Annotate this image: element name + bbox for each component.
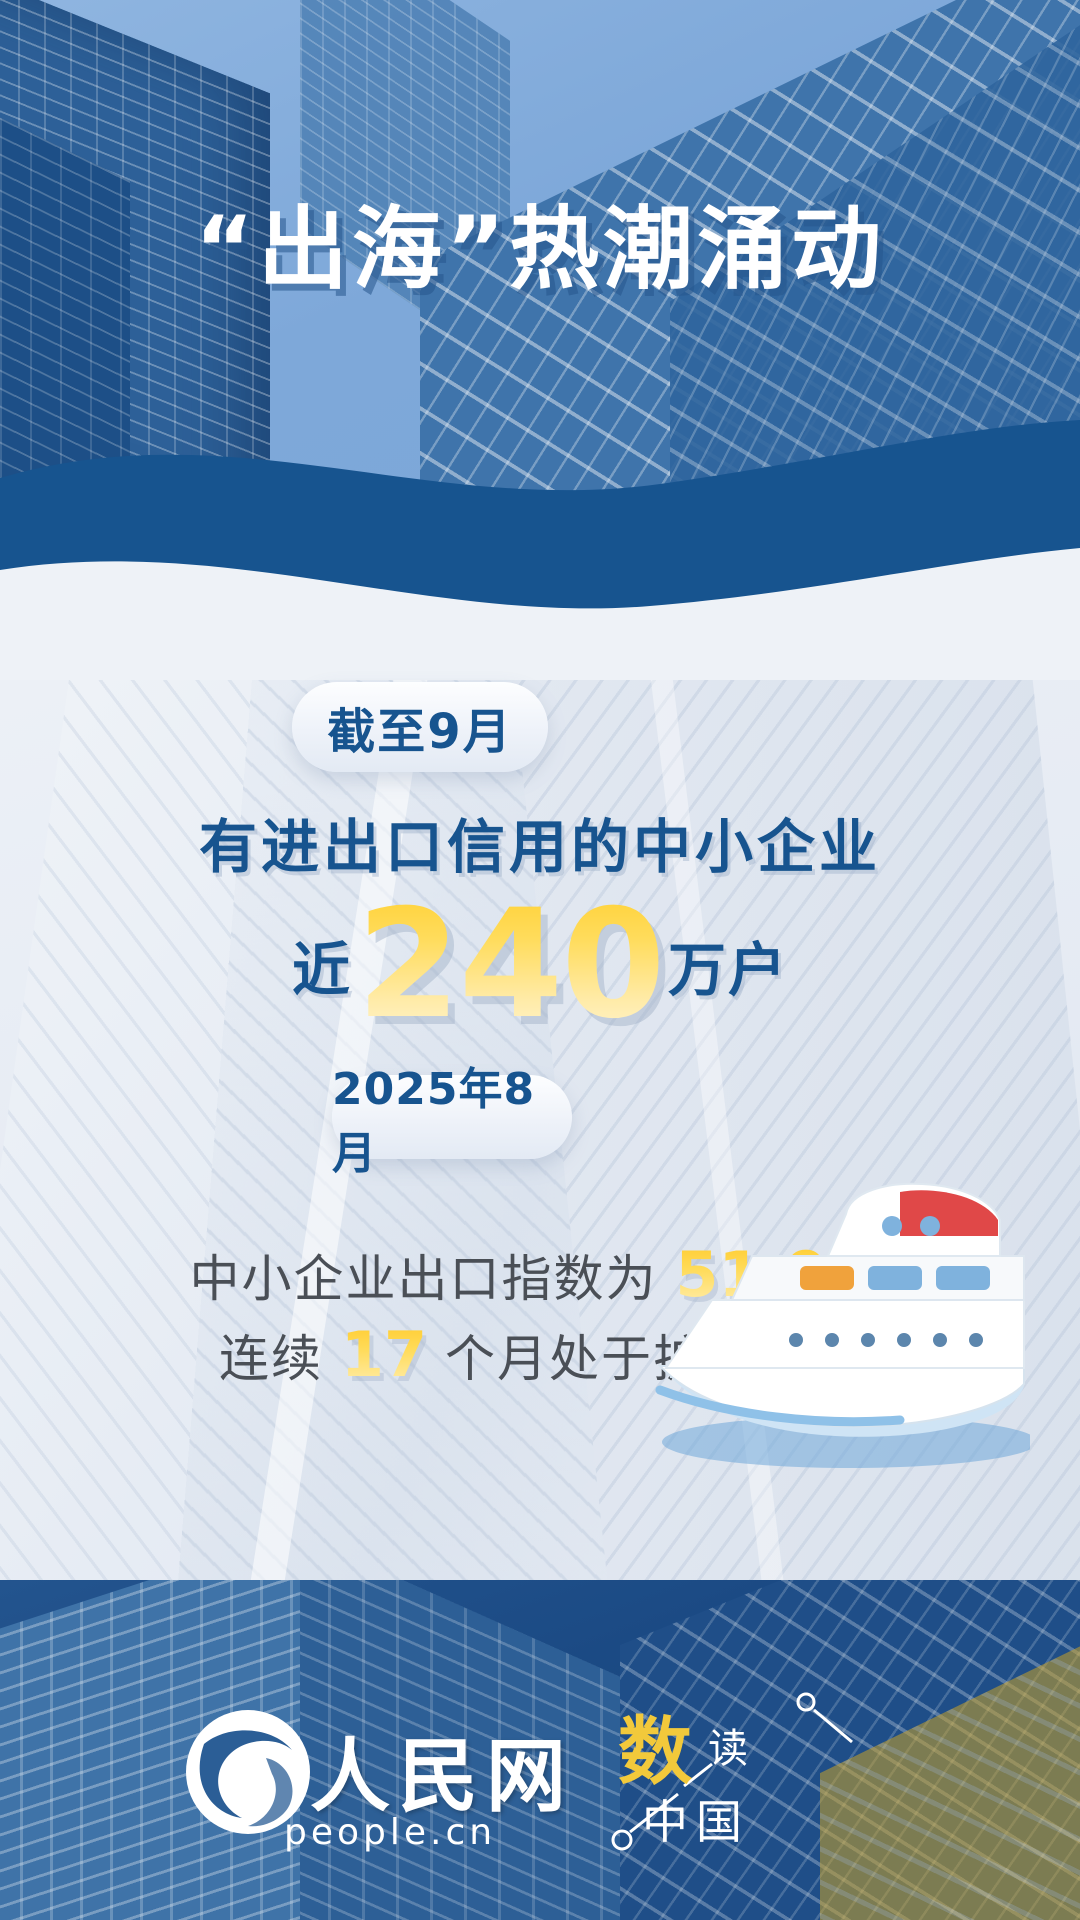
stat1-label: 中小企业出口指数为	[190, 1250, 658, 1308]
page-title: “出海”热潮涌动	[0, 198, 1080, 302]
badge-period-1: 截至9月	[292, 682, 548, 772]
section1-number-line: 近 240 万户	[0, 890, 1080, 1040]
section1-headline: 有进出口信用的中小企业	[0, 800, 1080, 884]
badge-period-2: 2025年8月	[332, 1075, 572, 1159]
emblem-sub-char: 读	[708, 1716, 748, 1774]
emblem-bottom-text: 中国	[642, 1786, 750, 1852]
highlight-number: 240	[356, 878, 663, 1052]
number-suffix: 万户	[668, 936, 788, 1004]
cruise-ship-icon	[600, 1180, 1030, 1480]
series-emblem: 数 读 中国	[600, 1690, 900, 1880]
number-prefix: 近	[292, 936, 352, 1004]
infographic-poster: “出海”热潮涌动 截至9月 有进出口信用的中小企业 近 240 万户 2025年…	[0, 0, 1080, 1920]
stat2-value: 17	[341, 1318, 427, 1391]
stat2-label-pre: 连续	[219, 1330, 323, 1388]
emblem-top-char: 数	[618, 1692, 694, 1799]
people-daily-globe-icon	[180, 1700, 540, 1860]
